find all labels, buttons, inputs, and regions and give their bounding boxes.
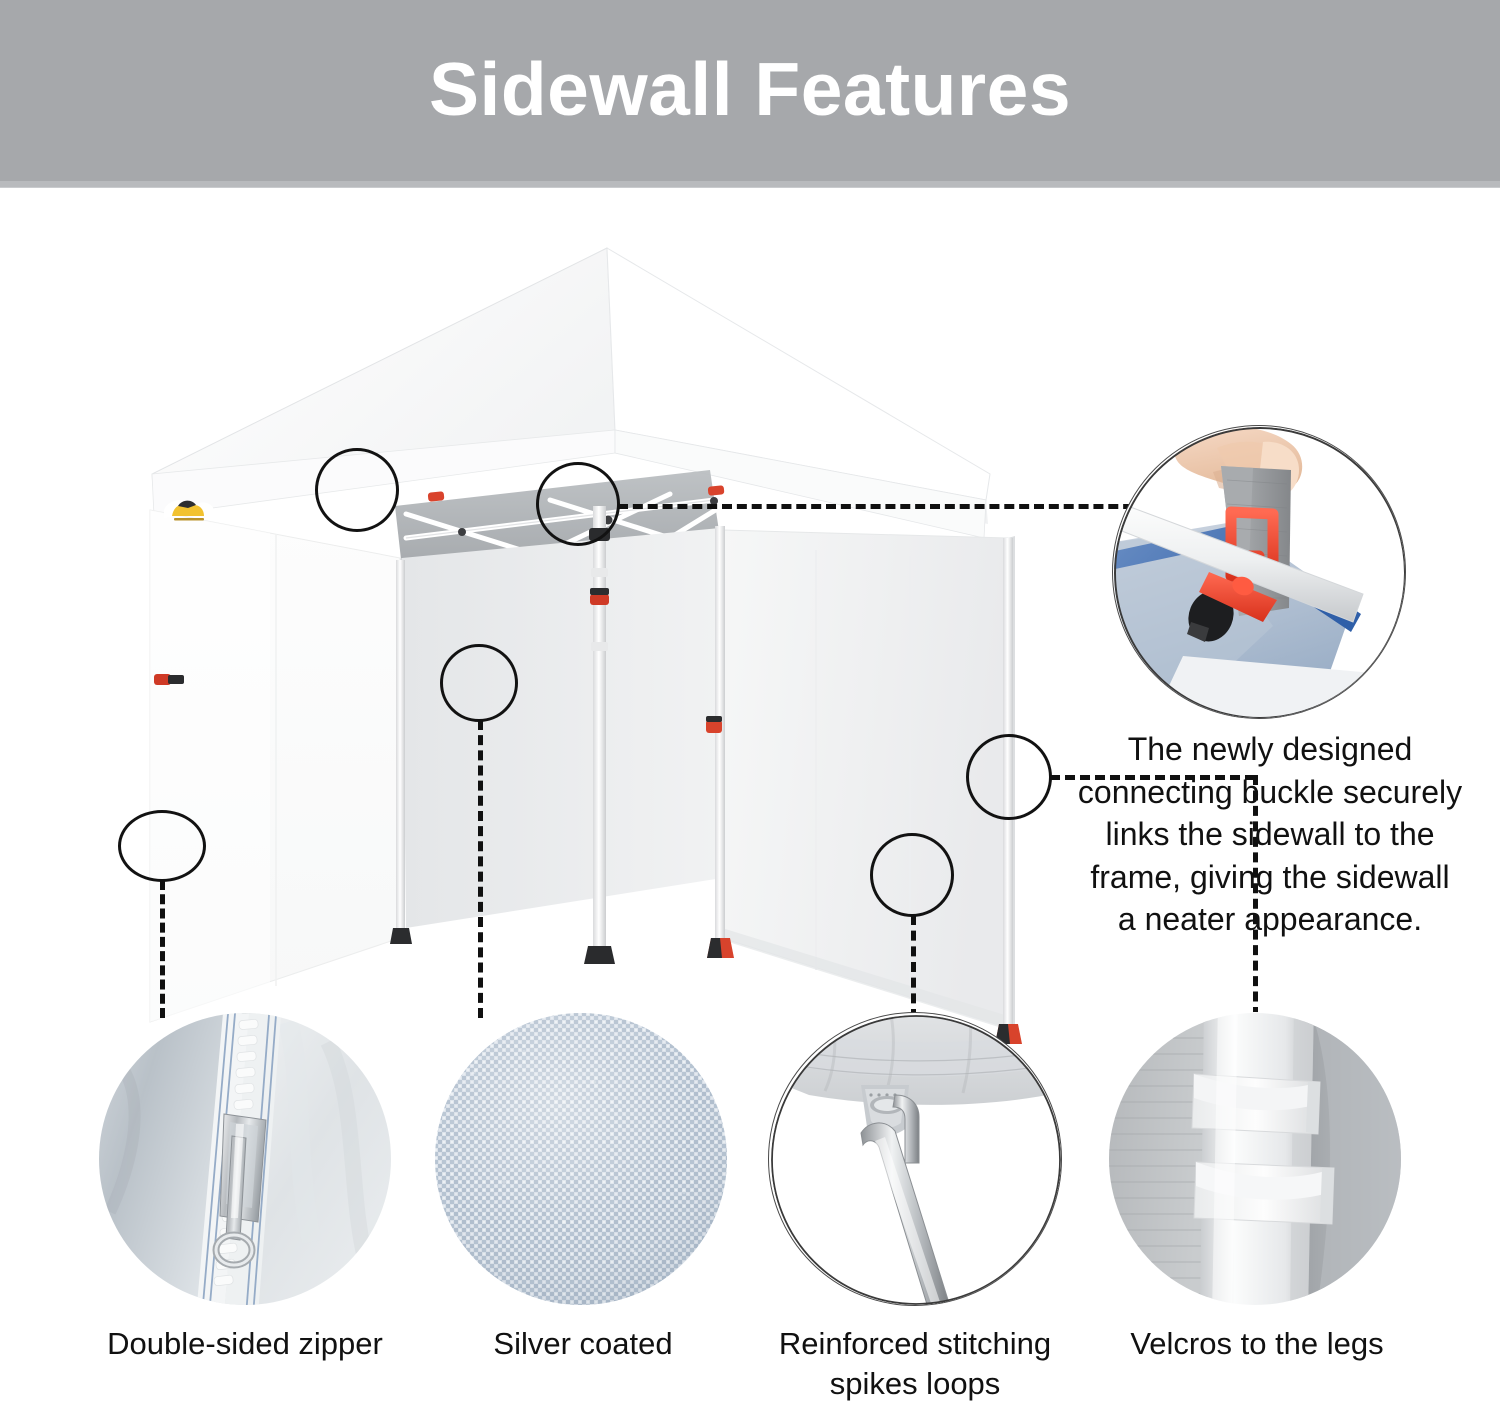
connector-silver-vertical bbox=[478, 720, 483, 1018]
caption-reinforced-stitching: Reinforced stitching spikes loops bbox=[730, 1324, 1100, 1403]
caption-line: Velcros to the legs bbox=[1072, 1324, 1442, 1364]
annotation-circle-zipper bbox=[118, 810, 206, 882]
stake-loop-photo bbox=[768, 1012, 1062, 1306]
caption-line: Double-sided zipper bbox=[60, 1324, 430, 1364]
buckle-caption-line-1: The newly designed bbox=[1058, 728, 1482, 771]
annotation-circle-buckle-top-left bbox=[315, 448, 399, 532]
annotation-circle-buckle-top-right bbox=[536, 462, 620, 546]
caption-silver-coated: Silver coated bbox=[398, 1324, 768, 1364]
header-divider bbox=[0, 181, 1500, 188]
content-stage: The newly designed connecting buckle sec… bbox=[0, 188, 1500, 1416]
buckle-caption-line-2: connecting buckle securely bbox=[1058, 771, 1482, 814]
buckle-caption-line-3: links the sidewall to the bbox=[1058, 813, 1482, 856]
canopy-tent-illustration bbox=[110, 238, 1070, 1078]
annotation-circle-silver-coated bbox=[440, 644, 518, 722]
connector-zipper-vertical bbox=[160, 880, 165, 1018]
connector-buckle-horizontal bbox=[618, 504, 1148, 509]
caption-line-1: Reinforced stitching bbox=[730, 1324, 1100, 1364]
buckle-caption-line-4: frame, giving the sidewall bbox=[1058, 856, 1482, 899]
zipper-photo bbox=[98, 1012, 392, 1306]
velcro-legs-photo bbox=[1108, 1012, 1402, 1306]
caption-line: Silver coated bbox=[398, 1324, 768, 1364]
annotation-circle-stake-loop bbox=[870, 833, 954, 917]
connecting-buckle-photo bbox=[1112, 425, 1406, 719]
page-title: Sidewall Features bbox=[0, 52, 1500, 127]
annotation-circle-velcro bbox=[966, 734, 1052, 820]
caption-line-2: spikes loops bbox=[730, 1364, 1100, 1404]
connecting-buckle-caption: The newly designed connecting buckle sec… bbox=[1058, 728, 1482, 941]
buckle-caption-line-5: a neater appearance. bbox=[1058, 898, 1482, 941]
caption-double-sided-zipper: Double-sided zipper bbox=[60, 1324, 430, 1364]
caption-velcros-to-the-legs: Velcros to the legs bbox=[1072, 1324, 1442, 1364]
silver-fabric-photo bbox=[434, 1012, 728, 1306]
connector-stake-vertical bbox=[911, 915, 916, 1019]
